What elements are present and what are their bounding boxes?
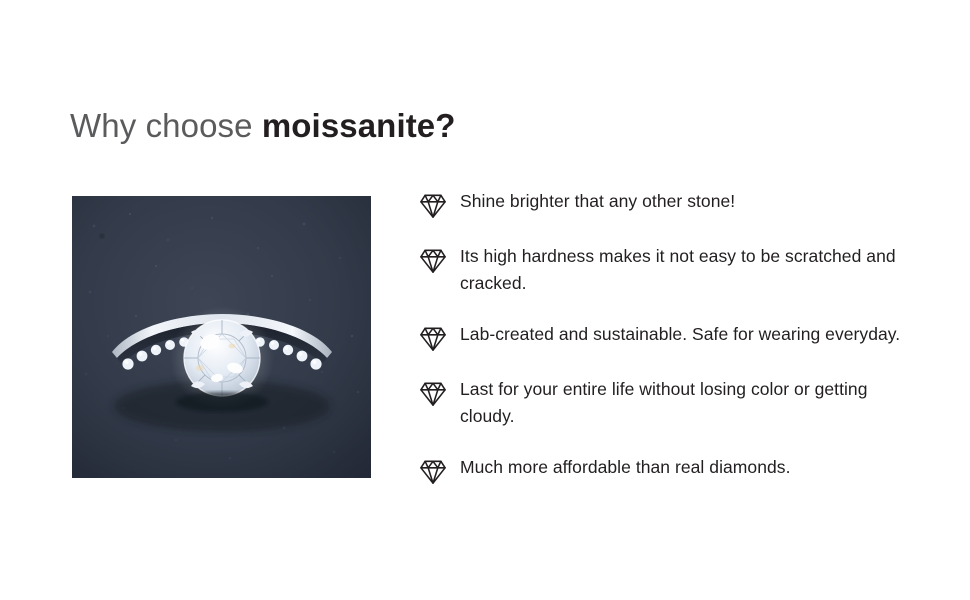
list-item: Last for your entire life without losing… [418, 376, 918, 430]
feature-text: Much more affordable than real diamonds. [460, 454, 918, 481]
diamond-icon [418, 381, 448, 407]
feature-text: Lab-created and sustainable. Safe for we… [460, 321, 918, 348]
diamond-icon [418, 459, 448, 485]
list-item: Shine brighter that any other stone! [418, 188, 918, 219]
feature-list: Shine brighter that any other stone! Its… [418, 188, 918, 485]
ring-photo-illustration [72, 196, 371, 478]
page-title: Why choose moissanite? [70, 104, 456, 148]
page-title-strong: moissanite? [262, 107, 456, 144]
list-item: Lab-created and sustainable. Safe for we… [418, 321, 918, 352]
promo-banner: Why choose moissanite? [0, 0, 970, 600]
product-photo [72, 196, 371, 478]
list-item: Much more affordable than real diamonds. [418, 454, 918, 485]
diamond-icon [418, 248, 448, 274]
feature-text: Its high hardness makes it not easy to b… [460, 243, 918, 297]
page-title-light: Why choose [70, 107, 262, 144]
feature-text: Last for your entire life without losing… [460, 376, 918, 430]
feature-text: Shine brighter that any other stone! [460, 188, 918, 215]
diamond-icon [418, 193, 448, 219]
list-item: Its high hardness makes it not easy to b… [418, 243, 918, 297]
diamond-icon [418, 326, 448, 352]
